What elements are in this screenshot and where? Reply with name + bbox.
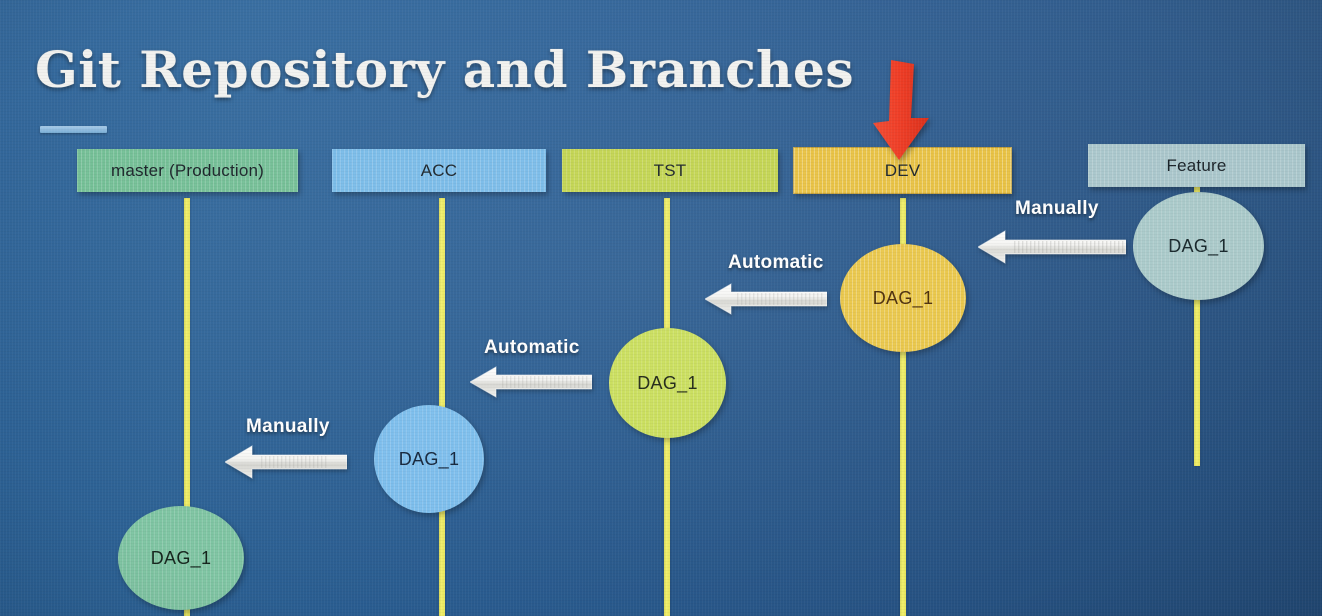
transition-label-acc-to-master: Manually [246, 416, 330, 438]
branch-header-master[interactable]: master (Production) [77, 149, 298, 192]
dag-node-tst[interactable]: DAG_1 [609, 328, 726, 438]
dag-node-tst-label: DAG_1 [637, 373, 698, 394]
dag-node-feature-label: DAG_1 [1168, 236, 1229, 257]
dag-node-dev-label: DAG_1 [873, 288, 934, 309]
transition-label-tst-to-acc: Automatic [484, 337, 580, 359]
title-underline-accent [40, 126, 107, 133]
transition-arrow-tst-to-acc-icon [470, 364, 592, 400]
dag-node-dev[interactable]: DAG_1 [840, 244, 966, 352]
branch-header-tst[interactable]: TST [562, 149, 778, 192]
transition-arrow-acc-to-master-icon [225, 443, 347, 481]
branch-header-feature-label: Feature [1167, 156, 1227, 176]
dag-node-acc-label: DAG_1 [399, 449, 460, 470]
branch-header-feature[interactable]: Feature [1088, 144, 1305, 187]
transition-label-dev-to-tst: Automatic [728, 252, 824, 274]
dag-node-acc[interactable]: DAG_1 [374, 405, 484, 513]
page-title: Git Repository and Branches [35, 40, 854, 99]
red-down-arrow-icon [869, 60, 931, 165]
branch-header-tst-label: TST [654, 161, 687, 181]
dag-node-feature[interactable]: DAG_1 [1133, 192, 1264, 300]
dag-node-master-label: DAG_1 [151, 548, 212, 569]
transition-label-feature-to-dev: Manually [1015, 198, 1099, 220]
transition-arrow-feature-to-dev-icon [978, 228, 1126, 266]
transition-arrow-dev-to-tst-icon [705, 281, 827, 317]
dag-node-master[interactable]: DAG_1 [118, 506, 244, 610]
branch-header-acc-label: ACC [421, 161, 458, 181]
branch-header-acc[interactable]: ACC [332, 149, 546, 192]
branch-header-master-label: master (Production) [111, 161, 264, 181]
slide-canvas: Git Repository and Branches master (Prod… [0, 0, 1322, 616]
